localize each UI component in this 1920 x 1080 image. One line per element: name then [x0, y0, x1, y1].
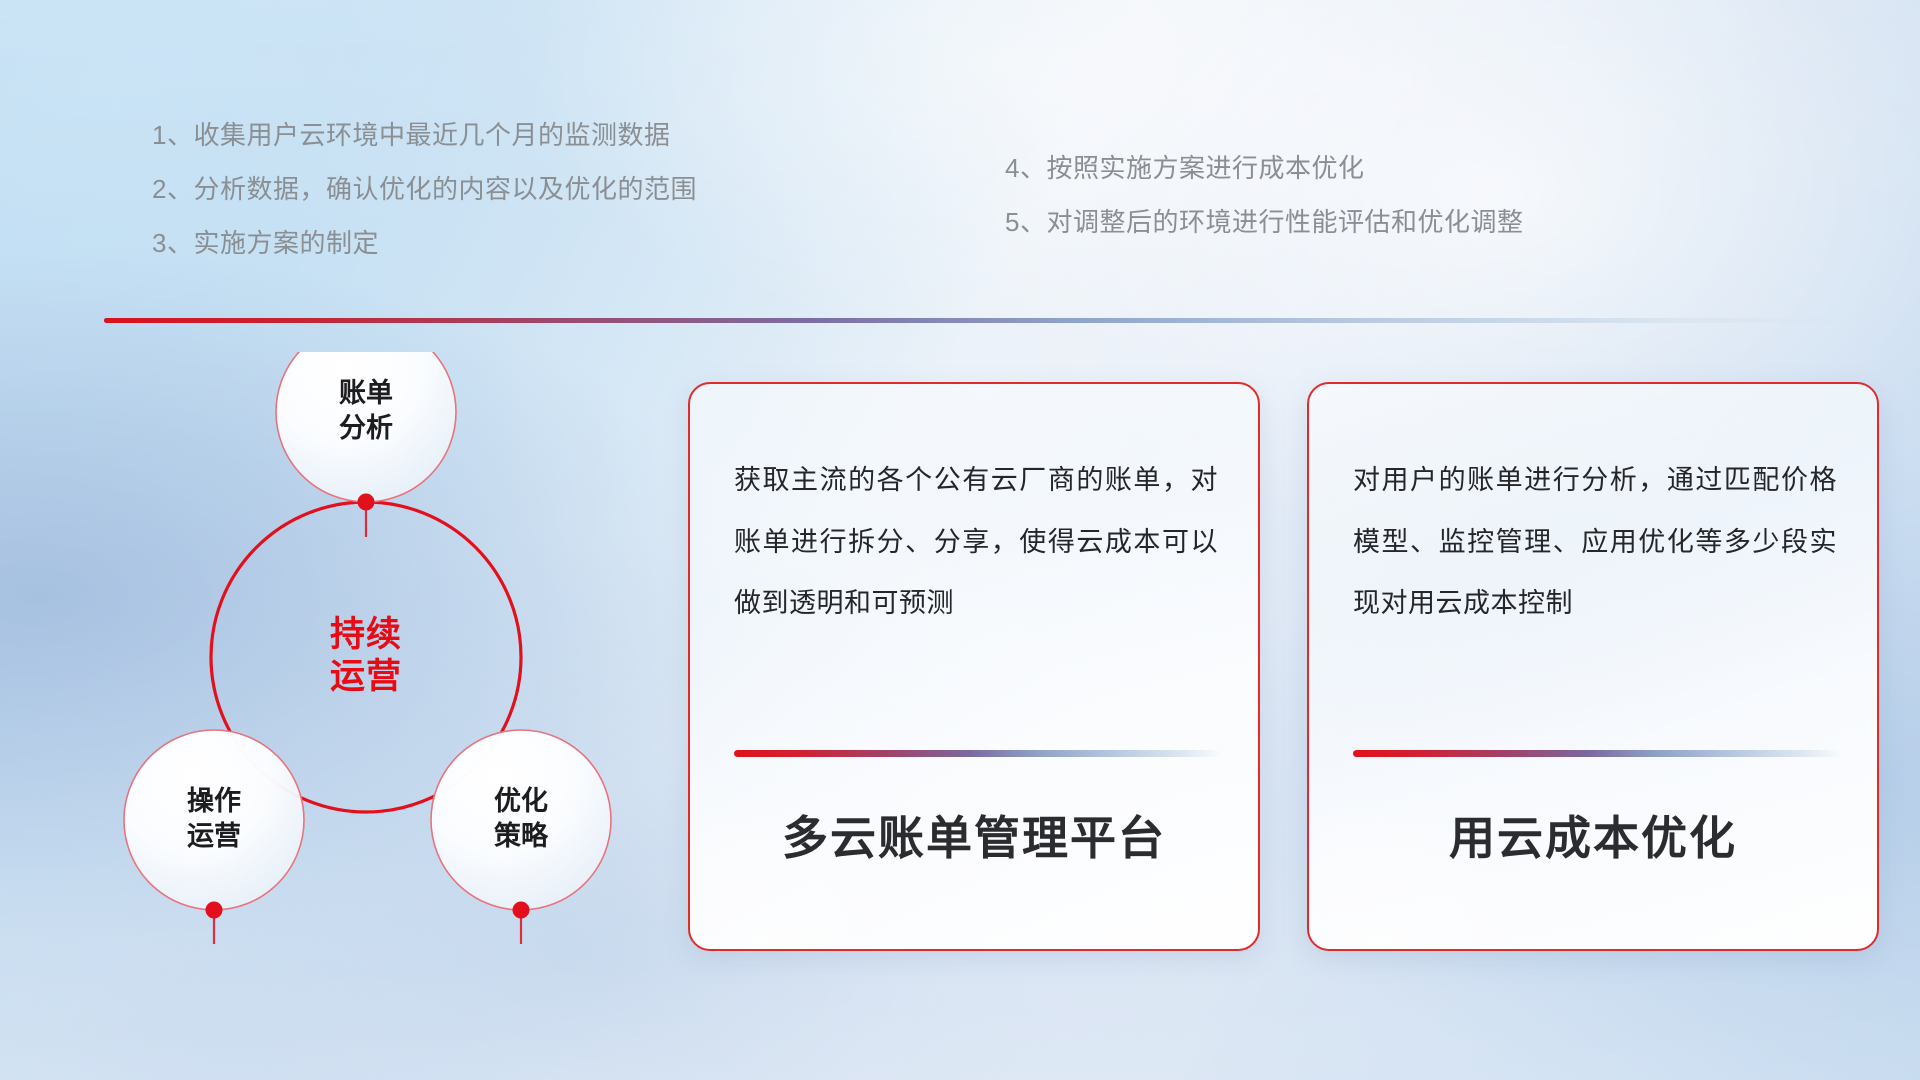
header-divider-rule [104, 318, 1864, 323]
card-body-text: 对用户的账单进行分析，通过匹配价格模型、监控管理、应用优化等多少段实现对用云成本… [1353, 450, 1837, 635]
card-divider [734, 750, 1222, 757]
node-circle-operations [124, 730, 304, 910]
step-item-5: 5、对调整后的环境进行性能评估和优化调整 [1005, 209, 1523, 235]
node-circle-billing-analysis [276, 352, 456, 502]
step-item-3: 3、实施方案的制定 [152, 230, 697, 256]
node-circle-optimization [431, 730, 611, 910]
card-body-text: 获取主流的各个公有云厂商的账单，对账单进行拆分、分享，使得云成本可以做到透明和可… [734, 450, 1218, 635]
feature-card-multi-cloud-billing-platform[interactable]: 获取主流的各个公有云厂商的账单，对账单进行拆分、分享，使得云成本可以做到透明和可… [688, 382, 1260, 951]
step-item-4: 4、按照实施方案进行成本优化 [1005, 155, 1523, 181]
step-item-2: 2、分析数据，确认优化的内容以及优化的范围 [152, 176, 697, 202]
node-dot-billing-analysis [358, 494, 375, 511]
card-divider [1353, 750, 1841, 757]
card-title: 多云账单管理平台 [690, 802, 1258, 868]
slide-canvas: 1、收集用户云环境中最近几个月的监测数据 2、分析数据，确认优化的内容以及优化的… [0, 0, 1920, 1080]
card-title: 用云成本优化 [1309, 802, 1877, 868]
node-dot-optimization [513, 902, 530, 919]
step-list-right: 4、按照实施方案进行成本优化 5、对调整后的环境进行性能评估和优化调整 [1005, 155, 1523, 235]
continuous-operations-diagram: 持续 运营 账单 分析 操作 运营 优化 策略 [96, 352, 676, 952]
feature-card-cloud-cost-optimization[interactable]: 对用户的账单进行分析，通过匹配价格模型、监控管理、应用优化等多少段实现对用云成本… [1307, 382, 1879, 951]
step-item-1: 1、收集用户云环境中最近几个月的监测数据 [152, 122, 697, 148]
node-dot-operations [206, 902, 223, 919]
step-list-left: 1、收集用户云环境中最近几个月的监测数据 2、分析数据，确认优化的内容以及优化的… [152, 122, 697, 256]
